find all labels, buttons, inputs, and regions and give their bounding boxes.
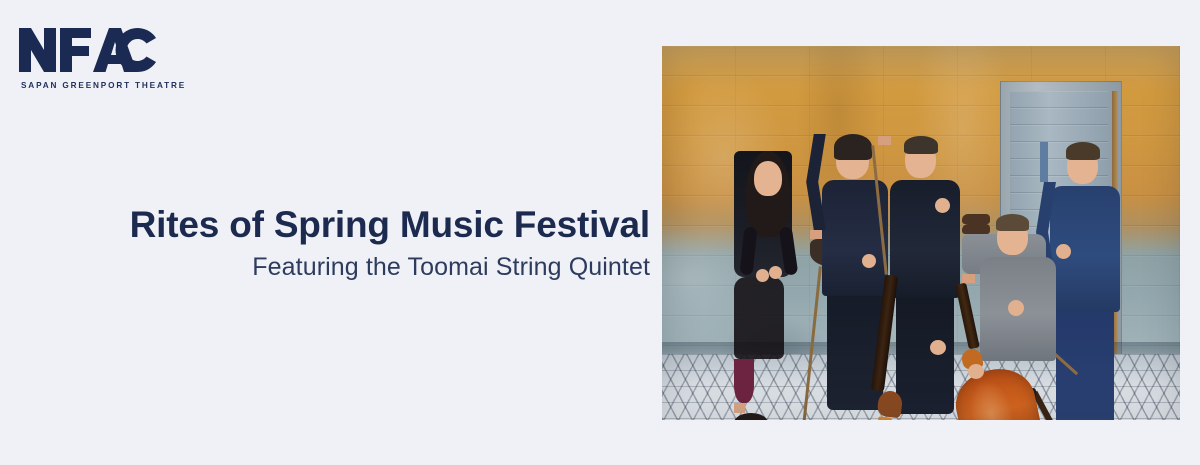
cello-body xyxy=(950,362,1055,420)
neck xyxy=(878,136,891,145)
left-hand xyxy=(935,198,950,213)
necktie xyxy=(1040,142,1048,182)
event-photo xyxy=(662,46,1180,420)
lace-top xyxy=(734,277,784,359)
bowing-hand xyxy=(968,364,984,379)
right-hand xyxy=(769,266,782,279)
logo-tagline: SAPAN GREENPORT THEATRE xyxy=(21,81,198,90)
logo[interactable]: SAPAN GREENPORT THEATRE xyxy=(18,26,198,90)
dress-bodice xyxy=(734,359,754,403)
head xyxy=(754,161,782,196)
neck xyxy=(962,274,975,283)
right-hand xyxy=(930,340,946,355)
page-subtitle: Featuring the Toomai String Quintet xyxy=(0,253,650,282)
hand xyxy=(862,254,876,268)
photo-scene xyxy=(662,46,1180,420)
hair xyxy=(1066,142,1100,160)
lapel-left xyxy=(806,134,826,182)
bass-peg xyxy=(878,416,893,420)
suit-jacket xyxy=(890,180,960,298)
hair xyxy=(904,136,938,154)
left-shoe xyxy=(962,214,990,224)
musician-cellist xyxy=(962,214,1082,420)
musician-violinist-1 xyxy=(734,151,818,420)
hair xyxy=(834,134,872,160)
page-title: Rites of Spring Music Festival xyxy=(0,205,650,245)
nfac-wordmark-icon xyxy=(18,26,158,74)
trousers xyxy=(827,292,883,410)
neck xyxy=(734,403,745,413)
right-shoe xyxy=(962,224,990,234)
trousers xyxy=(896,294,954,414)
hair-top xyxy=(734,413,768,420)
headline: Rites of Spring Music Festival Featuring… xyxy=(0,205,660,282)
fingering-hand xyxy=(1008,300,1024,316)
left-hand xyxy=(756,269,769,282)
hair xyxy=(996,214,1029,231)
